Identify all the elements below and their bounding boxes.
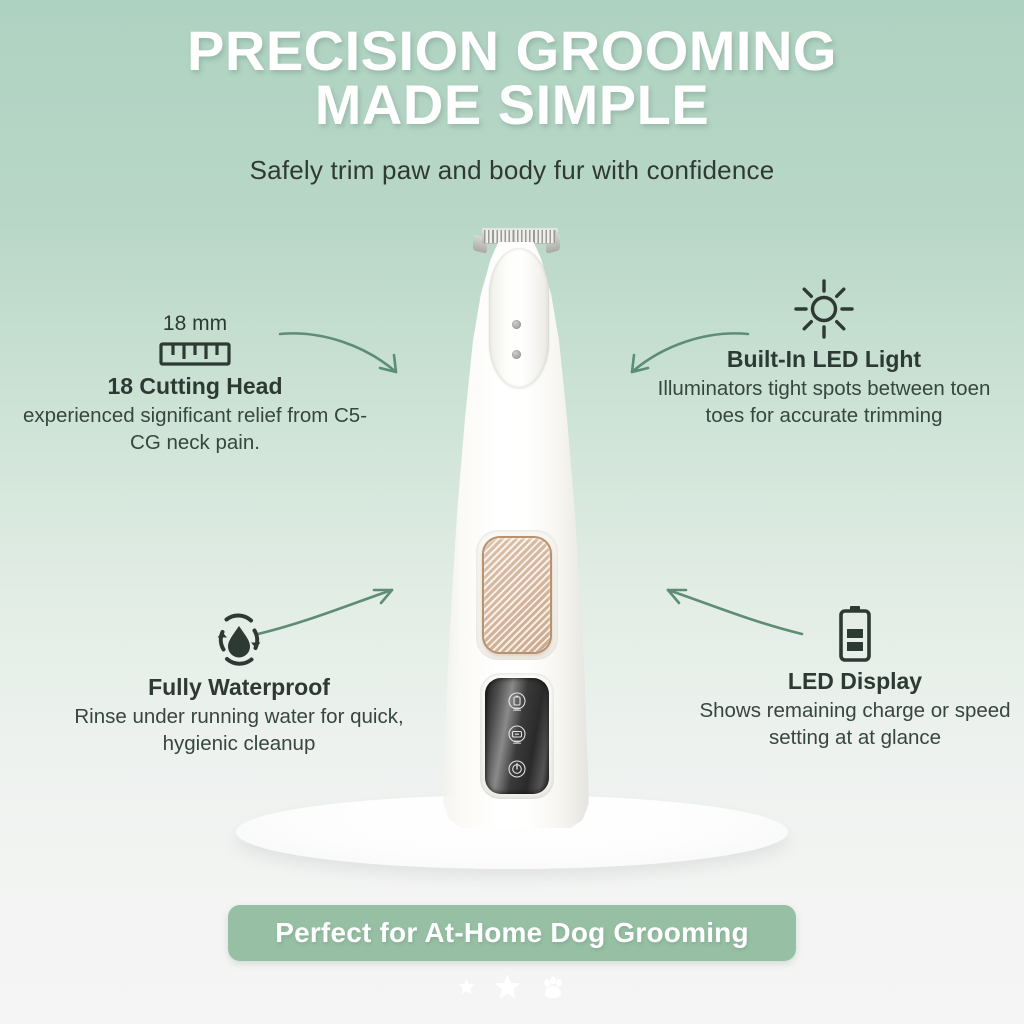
measurement-label: 18 mm	[10, 312, 380, 336]
led-display-panel[interactable]	[485, 678, 549, 794]
title-line-2: MADE SIMPLE	[0, 78, 1024, 132]
sun-icon	[793, 278, 855, 340]
feature-description: Illuminators tight spots between toen to…	[638, 375, 1010, 429]
battery-level-icon	[505, 691, 529, 715]
feature-description: Shows remaining charge or speed setting …	[690, 697, 1020, 751]
badge-row	[0, 972, 1024, 1001]
blade-teeth	[484, 230, 556, 243]
feature-description: Rinse under running water for quick, hyg…	[58, 703, 420, 757]
trimmer-neck-inset	[489, 248, 549, 388]
feature-led-light: Built-In LED Light Illuminators tight sp…	[638, 278, 1010, 429]
cta-banner-text: Perfect for At-Home Dog Grooming	[275, 917, 749, 949]
infographic-canvas: PRECISION GROOMING MADE SIMPLE Safely tr…	[0, 0, 1024, 1024]
feature-led-display: LED Display Shows remaining charge or sp…	[690, 604, 1020, 751]
ruler-icon	[159, 341, 231, 367]
cta-banner[interactable]: Perfect for At-Home Dog Grooming	[228, 905, 796, 961]
page-title: PRECISION GROOMING MADE SIMPLE	[0, 24, 1024, 132]
led-indicator-dot-bottom	[512, 350, 521, 359]
feature-description: experienced significant relief from C5-C…	[10, 402, 380, 456]
speed-level-icon	[505, 724, 529, 748]
feature-title: 18 Cutting Head	[10, 373, 380, 400]
product-image-trimmer	[418, 228, 614, 828]
led-indicator-dot-top	[512, 320, 521, 329]
feature-title: LED Display	[690, 668, 1020, 695]
star-small-icon	[457, 977, 476, 996]
feature-waterproof: Fully Waterproof Rinse under running wat…	[58, 612, 420, 757]
feature-title: Fully Waterproof	[58, 674, 420, 701]
paw-print-icon	[539, 973, 567, 1001]
page-subtitle: Safely trim paw and body fur with confid…	[0, 155, 1024, 186]
power-button[interactable]	[482, 536, 552, 654]
feature-title: Built-In LED Light	[638, 346, 1010, 373]
water-drop-recycle-icon	[210, 612, 268, 668]
power-icon	[505, 757, 529, 781]
star-large-icon	[493, 972, 522, 1001]
feature-cutting-head: 18 mm 18 Cutting Head experienced signif…	[10, 312, 380, 456]
battery-icon	[835, 604, 875, 662]
cutting-blade	[482, 228, 558, 244]
